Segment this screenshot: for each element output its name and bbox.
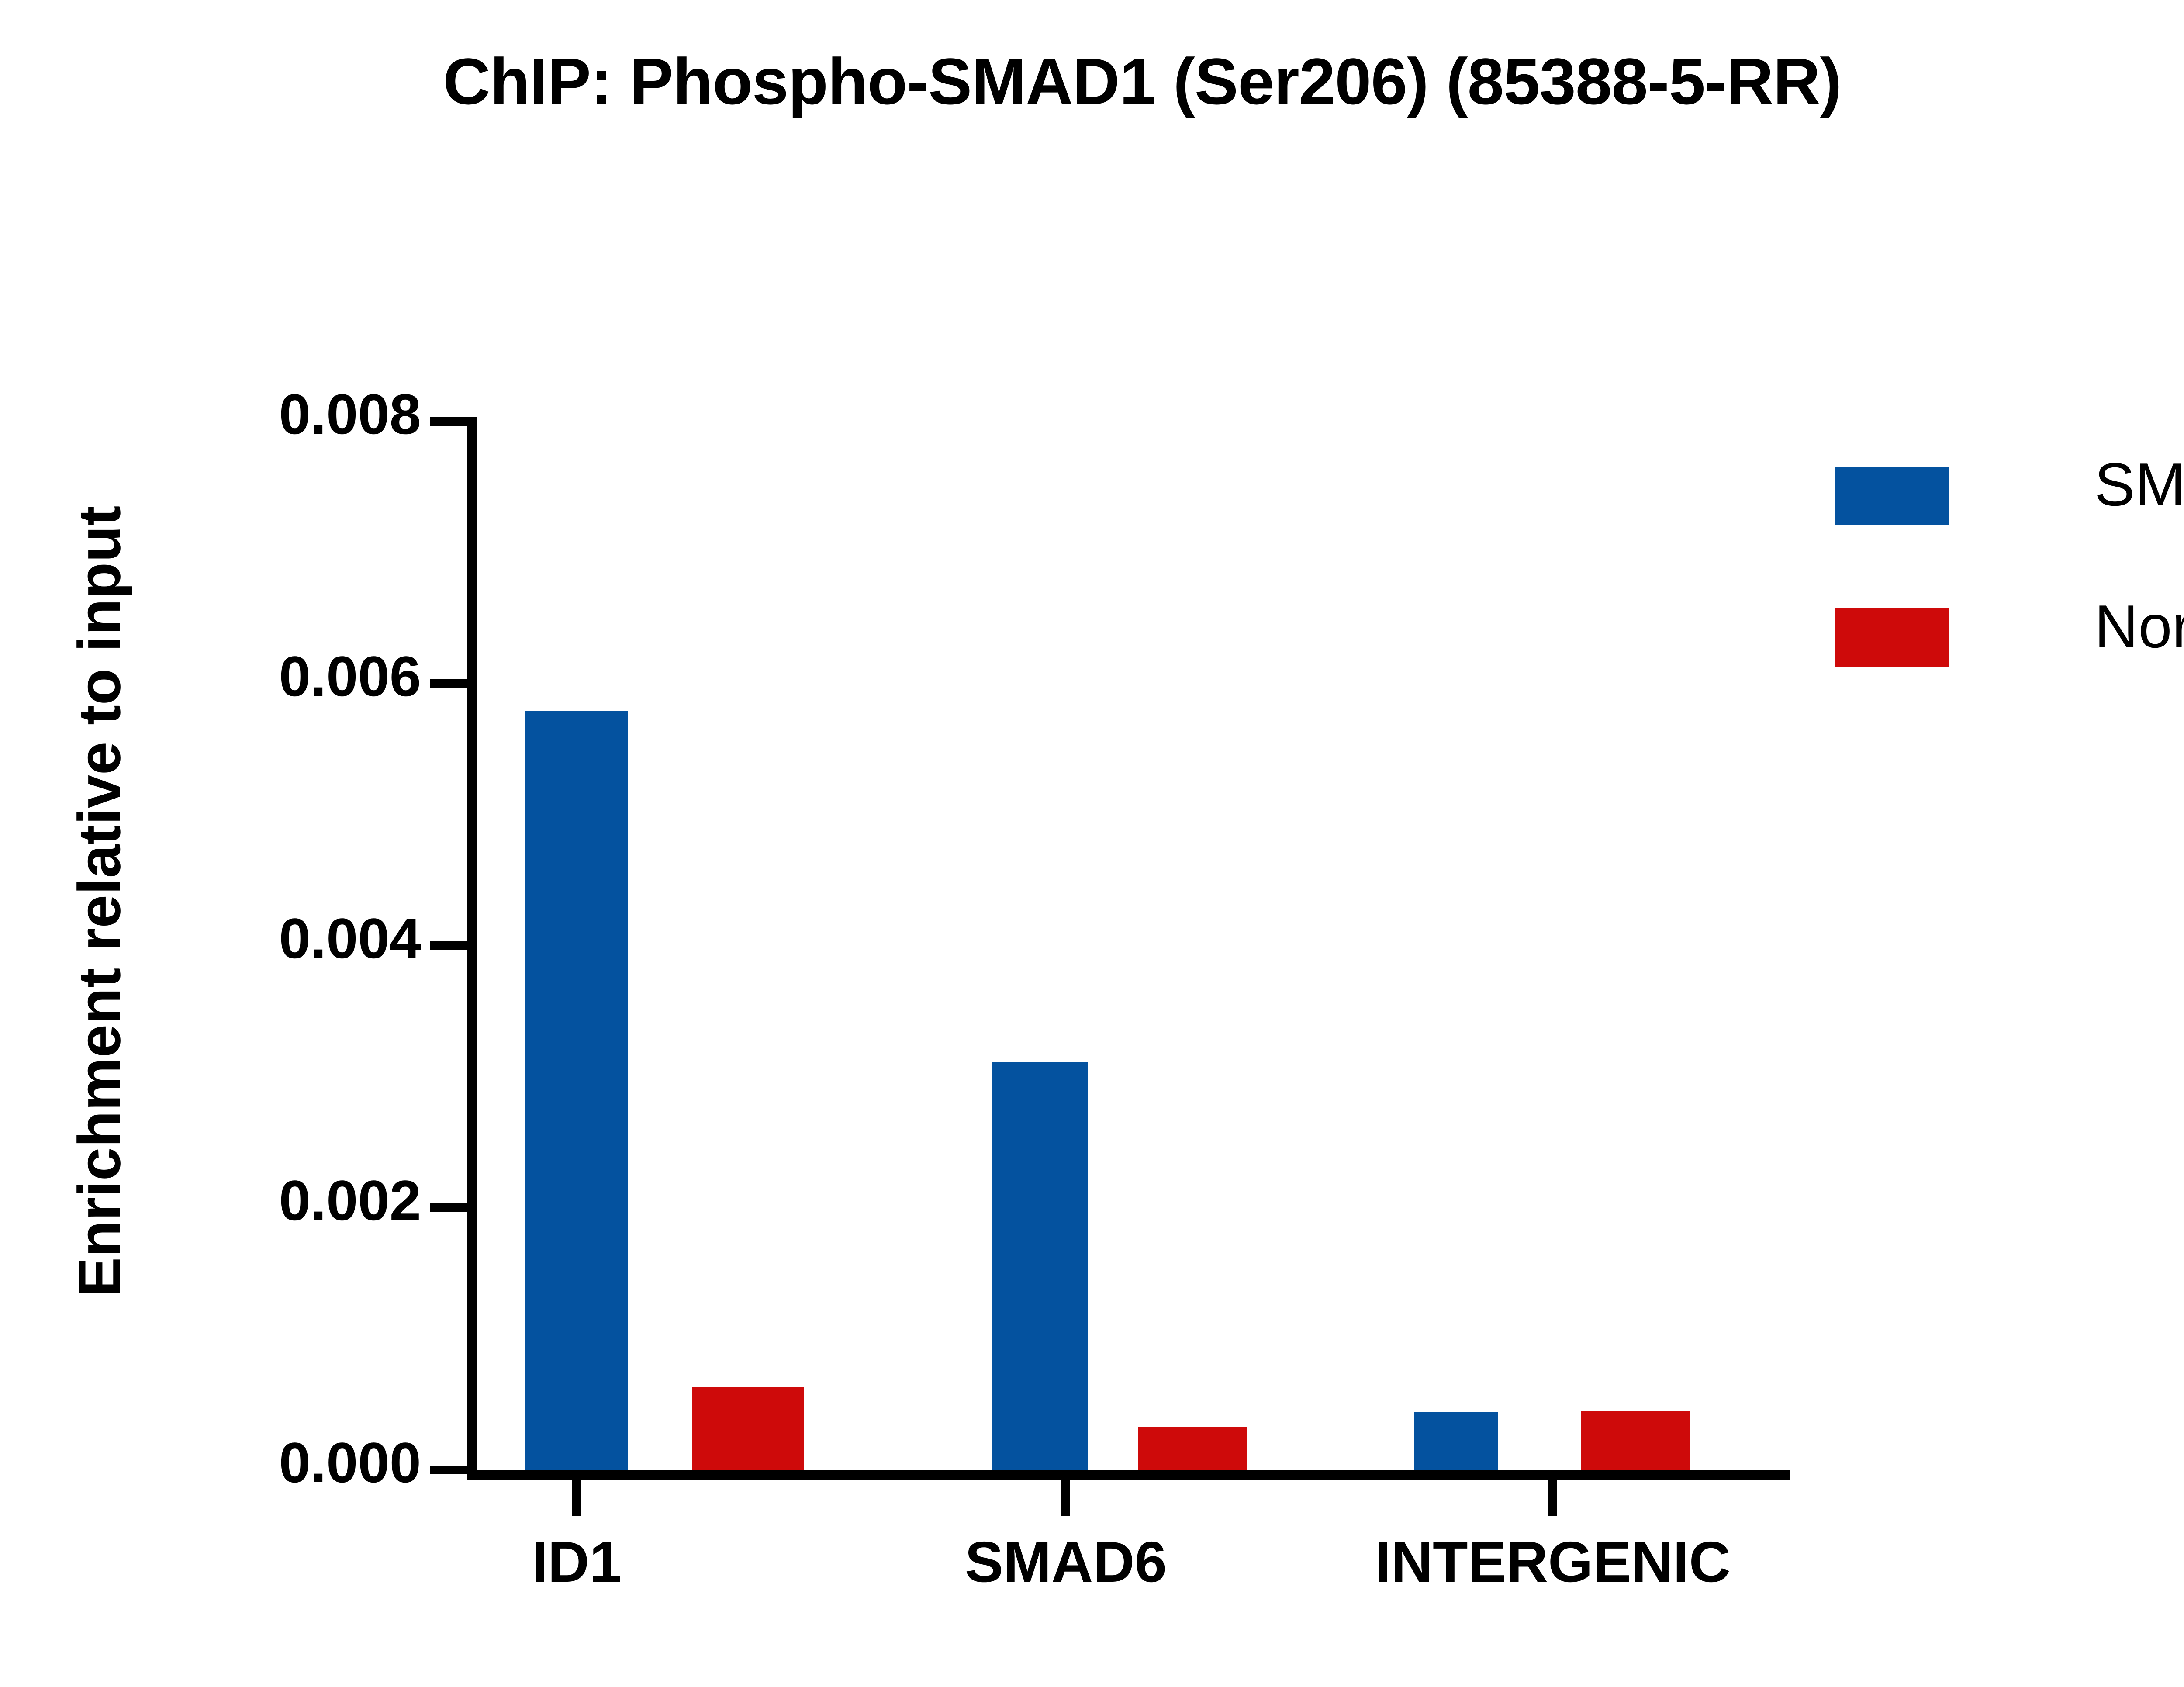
y-axis-title: Enrichment relative to input — [66, 290, 134, 1513]
plot-area — [476, 422, 1787, 1470]
x-axis-tick — [572, 1480, 581, 1516]
x-axis-tick — [1061, 1480, 1070, 1516]
y-axis-tick-label: 0.002 — [72, 1168, 421, 1233]
legend-swatch-icon — [1835, 467, 1949, 525]
y-axis-tick — [430, 941, 467, 950]
y-axis-tick-label: 0.004 — [72, 906, 421, 971]
bar-smad6-series2 — [1138, 1427, 1247, 1470]
legend-item[interactable]: SMAD1S206P (85388-5-RR) — [1835, 463, 2184, 605]
y-axis-line — [467, 417, 477, 1475]
y-axis-tick — [430, 1203, 467, 1212]
x-axis-line — [467, 1470, 1790, 1480]
legend-item-label: SMAD1S206P (85388-5-RR) — [2094, 450, 2184, 520]
x-axis-tick — [1548, 1480, 1557, 1516]
page-title: ChIP: Phospho-SMAD1 (Ser206) (85388-5-RR… — [0, 47, 2184, 116]
legend-item[interactable]: Normal Rabbit IgG (98136-1-RR) — [1835, 605, 2184, 747]
chart-legend: SMAD1S206P (85388-5-RR)Normal Rabbit IgG… — [1835, 463, 2184, 747]
bar-intergenic-series1 — [1414, 1412, 1498, 1470]
y-axis-tick-label: 0.006 — [72, 643, 421, 709]
chart-figure: ChIP: Phospho-SMAD1 (Ser206) (85388-5-RR… — [0, 0, 2184, 1687]
y-axis-tick — [430, 679, 467, 688]
y-axis-tick-label: 0.000 — [72, 1430, 421, 1495]
y-axis-tick — [430, 1466, 467, 1474]
bar-id1-series2 — [692, 1387, 804, 1470]
y-axis-tick — [430, 417, 467, 426]
bar-smad6-series1 — [992, 1062, 1088, 1470]
x-axis-tick-label: ID1 — [314, 1529, 839, 1595]
y-axis-tick-label: 0.008 — [72, 381, 421, 447]
x-axis-tick-label: INTERGENIC — [1291, 1529, 1815, 1595]
legend-swatch-icon — [1835, 608, 1949, 667]
bar-id1-series1 — [525, 711, 628, 1470]
legend-item-label: Normal Rabbit IgG (98136-1-RR) — [2094, 592, 2184, 662]
bar-intergenic-series2 — [1581, 1411, 1690, 1470]
x-axis-tick-label: SMAD6 — [804, 1529, 1328, 1595]
